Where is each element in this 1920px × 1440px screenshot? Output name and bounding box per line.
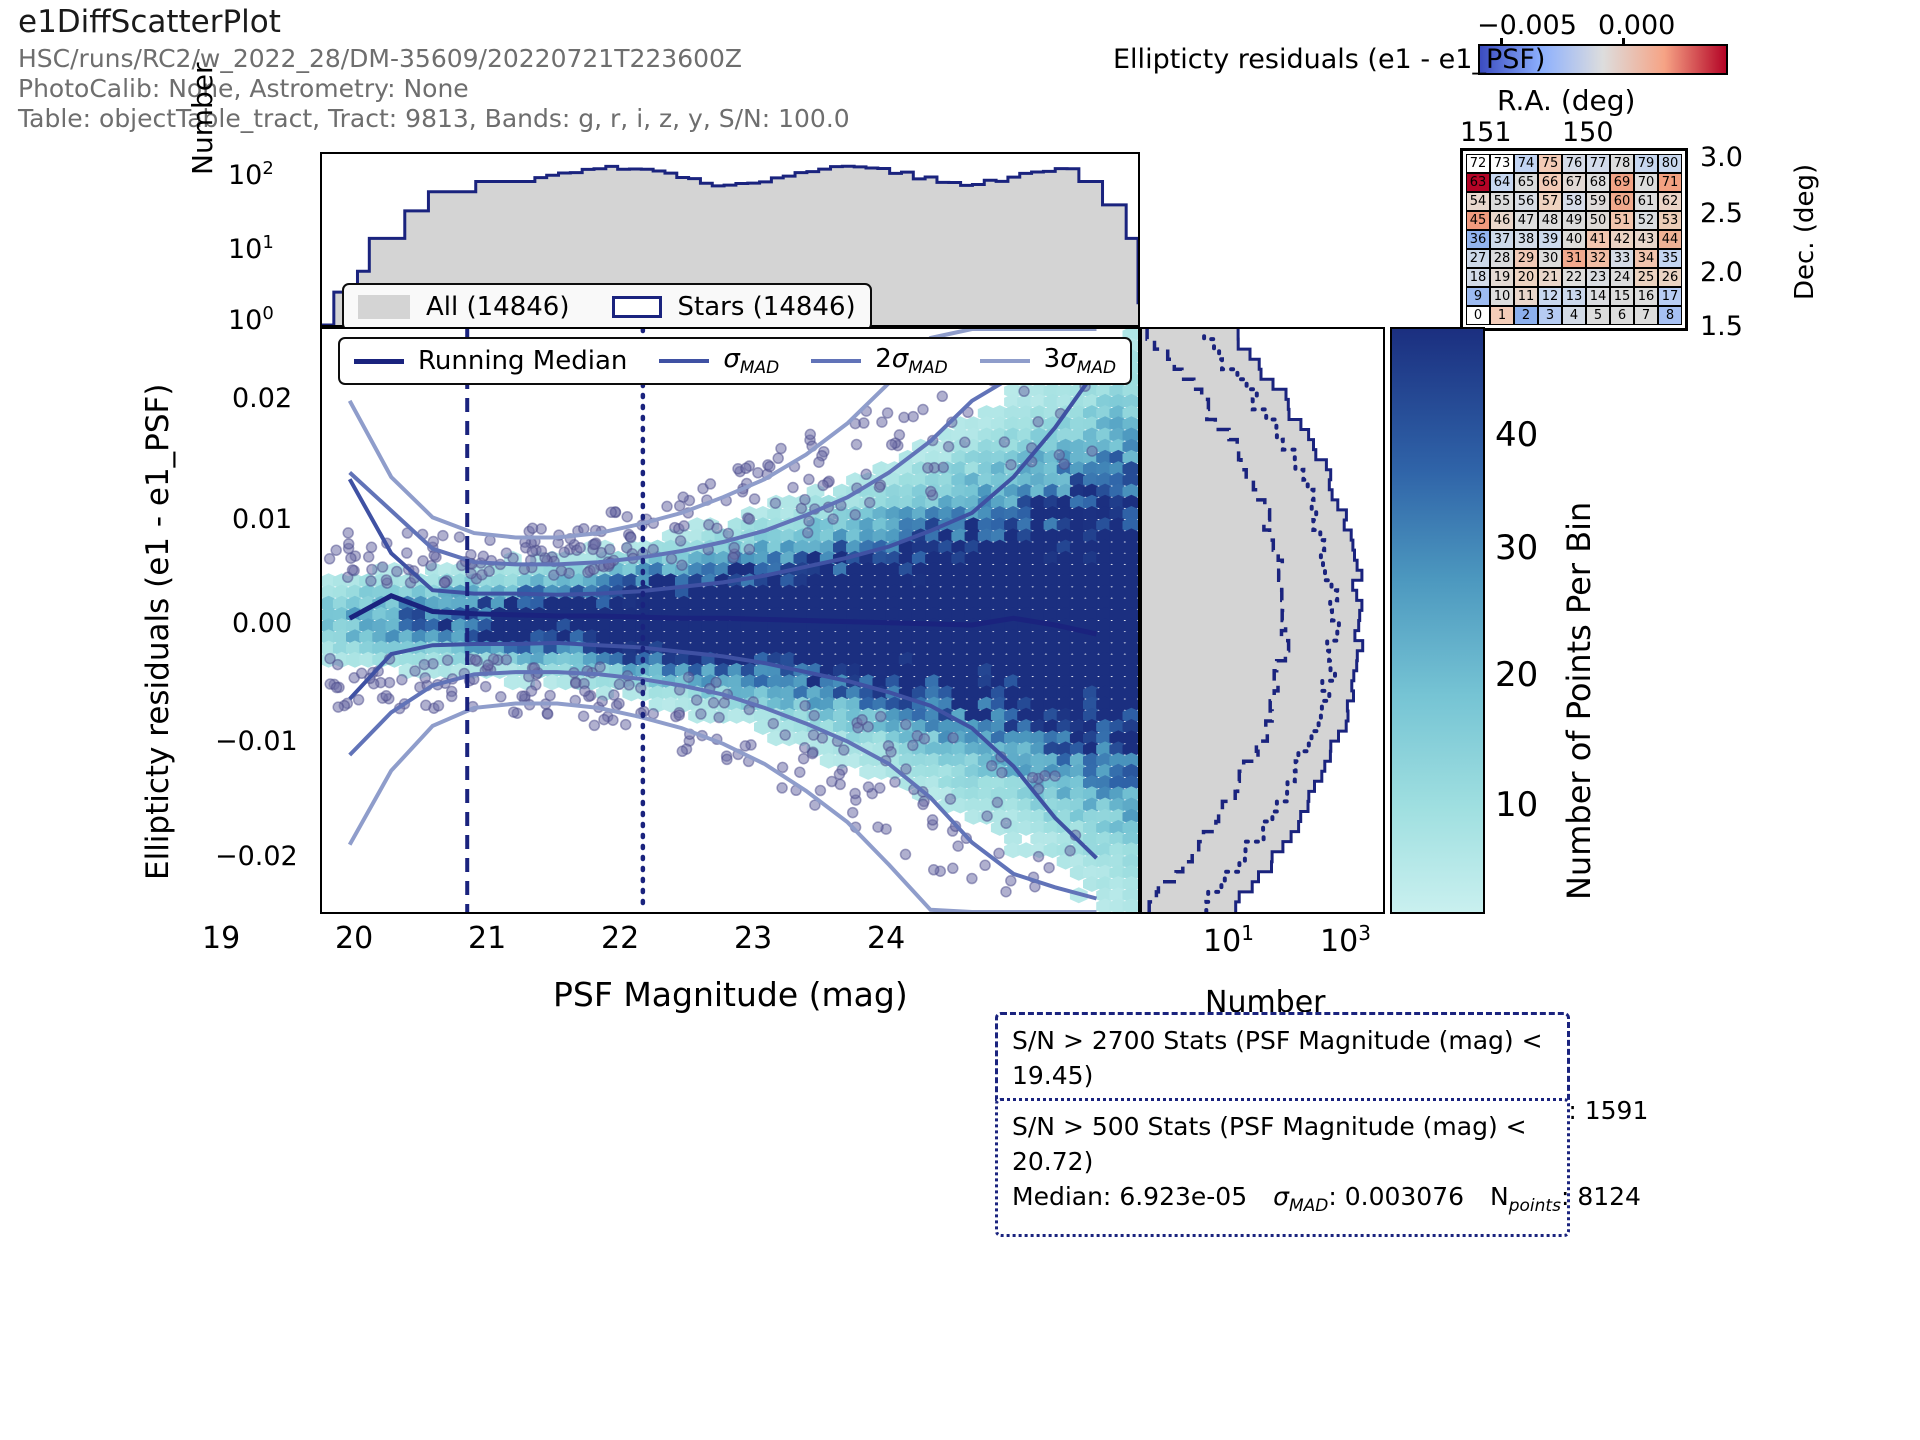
stats-heading-sn500: S/N > 500 Stats (PSF Magnitude (mag) < 2… [1012,1109,1553,1179]
scatter-point [886,747,896,757]
scatter-point [455,532,465,542]
scatter-point [1065,846,1075,856]
scatter-point [815,786,825,796]
scatter-point [967,874,977,884]
scatter-point [597,696,607,706]
skymap-dec-tick-2: 2.0 [1700,257,1743,288]
scatter-point [901,720,911,730]
scatter-point [599,715,609,725]
scatter-point [741,463,751,473]
skymap-cell-50[interactable]: 50 [1586,211,1610,230]
skymap-cell-22[interactable]: 22 [1562,268,1586,287]
scatter-point [614,679,624,689]
scatter-point [928,815,938,825]
skymap-cell-72[interactable]: 72 [1466,154,1490,173]
scatter-point [857,715,867,725]
scatter-point [1054,450,1064,460]
legend-line-3sigma-mad [980,359,1030,363]
scatter-point [994,848,1004,858]
scatter-point [850,510,860,520]
skymap-cell-16[interactable]: 16 [1634,287,1658,306]
legend-line-sigma-mad [659,359,709,363]
scatter-point [501,548,511,558]
skymap-cell-32[interactable]: 32 [1586,249,1610,268]
scatter-point [366,576,376,586]
scatter-point [937,391,947,401]
skymap-cell-59[interactable]: 59 [1586,192,1610,211]
scatter-point [803,528,813,538]
scatter-point [705,479,715,489]
skymap-dec-tick-25: 2.5 [1700,198,1743,229]
main-xtick-20: 20 [335,921,373,956]
scatter-point [765,462,775,472]
scatter-point [778,762,788,772]
scatter-point [875,783,885,793]
scatter-point [992,797,1002,807]
scatter-point [877,417,887,427]
scatter-point [899,412,909,422]
scatter-point [1040,771,1050,781]
scatter-point [559,547,569,557]
main-xtick-23: 23 [734,921,772,956]
scatter-point [770,498,780,508]
skymap-cell-0[interactable]: 0 [1466,306,1490,325]
scatter-point [590,539,600,549]
scatter-point [471,655,481,665]
scatter-point [773,453,783,463]
scatter-point [805,429,815,439]
skymap-cell-67[interactable]: 67 [1562,173,1586,192]
skymap-cell-10[interactable]: 10 [1490,287,1514,306]
scatter-point [1059,459,1069,469]
skymap-cell-70[interactable]: 70 [1634,173,1658,192]
skymap-cell-24[interactable]: 24 [1610,268,1634,287]
scatter-point [517,691,527,701]
scatter-point [331,545,341,555]
subtitle-line-collection: HSC/runs/RC2/w_2022_28/DM-35609/20220721… [18,44,850,74]
skymap-cell-74[interactable]: 74 [1514,154,1538,173]
main-xtick-24: 24 [867,921,905,956]
scatter-point [589,720,599,730]
stats-row-sn500: Median: 6.923e-05 σMAD: 0.003076 Npoints… [1012,1179,1553,1224]
skymap-cell-38[interactable]: 38 [1514,230,1538,249]
skymap-cell-60[interactable]: 60 [1610,192,1634,211]
scatter-point [580,686,590,696]
main-ytick-1: 0.01 [232,504,292,535]
skymap-cell-69[interactable]: 69 [1610,173,1634,192]
scatter-point [788,483,798,493]
scatter-point [443,655,453,665]
skymap-cell-34[interactable]: 34 [1634,249,1658,268]
colorbar-label: Number of Points Per Bin [1560,502,1598,900]
scatter-point [626,533,636,543]
skymap-cell-15[interactable]: 15 [1610,287,1634,306]
scatter-point [918,405,928,415]
skymap-cell-61[interactable]: 61 [1634,192,1658,211]
scatter-point [440,578,450,588]
scatter-point [980,860,990,870]
cbar-tick-10: 10 [1495,785,1538,825]
main-xtick-22: 22 [601,921,639,956]
scatter-point [344,539,354,549]
skymap-cell-53[interactable]: 53 [1658,211,1682,230]
scatter-point [768,719,778,729]
skymap-cell-17[interactable]: 17 [1658,287,1682,306]
scatter-point [712,523,722,533]
right-histogram-svg [1142,329,1383,912]
legend-label-stars: Stars (14846) [678,292,856,322]
scatter-point [744,544,754,554]
scatter-point [926,487,936,497]
scatter-point [402,548,412,558]
skymap-cell-21[interactable]: 21 [1538,268,1562,287]
scatter-point [873,822,883,832]
righthist-xtick-1000: 103 [1320,921,1371,959]
scatter-point [447,691,457,701]
scatter-point [692,695,702,705]
scatter-point [410,666,420,676]
scatter-point [325,654,335,664]
scatter-point [852,440,862,450]
skymap-cell-64[interactable]: 64 [1490,173,1514,192]
skymap-cell-76[interactable]: 76 [1562,154,1586,173]
scatter-point [419,660,429,670]
skymap-cell-78[interactable]: 78 [1610,154,1634,173]
skymap-cell-45[interactable]: 45 [1466,211,1490,230]
skymap-cell-7[interactable]: 7 [1634,306,1658,325]
skymap-cell-29[interactable]: 29 [1514,249,1538,268]
scatter-point [496,692,506,702]
scatter-point [624,680,634,690]
skymap-cell-11[interactable]: 11 [1514,287,1538,306]
skymap-cell-55[interactable]: 55 [1490,192,1514,211]
scatter-point [800,495,810,505]
scatter-point [948,863,958,873]
right-hist-all-fill [1142,329,1363,912]
skymap-cell-79[interactable]: 79 [1634,154,1658,173]
scatter-point [397,675,407,685]
main-ylabel: Ellipticty residuals (e1 - e1_PSF) [140,384,176,880]
scatter-point [795,767,805,777]
skymap-cell-54[interactable]: 54 [1466,192,1490,211]
scatter-point [1028,773,1038,783]
scatter-point [675,501,685,511]
subtitle-line-table: Table: objectTable_tract, Tract: 9813, B… [18,104,850,134]
legend-line-2sigma-mad [811,359,861,363]
scatter-point [890,777,900,787]
scatter-point [509,707,519,717]
scatter-point [865,498,875,508]
scatter-point [828,514,838,524]
scatter-point [750,494,760,504]
scatter-point [944,442,954,452]
skymap-cell-47[interactable]: 47 [1514,211,1538,230]
scatter-point [918,799,928,809]
legend-label-sigma-mad: σMAD [723,344,779,378]
subtitle-line-calib: PhotoCalib: None, Astrometry: None [18,74,850,104]
scatter-point [1006,876,1016,886]
scatter-point [850,789,860,799]
scatter-point [346,553,356,563]
scatter-point [800,743,810,753]
scatter-point [1006,460,1016,470]
scatter-point [575,543,585,553]
scatter-point [1034,852,1044,862]
skymap-cell-26[interactable]: 26 [1658,268,1682,287]
scatter-point [556,566,566,576]
scatter-point [709,698,719,708]
skymap-cell-27[interactable]: 27 [1466,249,1490,268]
skymap-cell-49[interactable]: 49 [1562,211,1586,230]
legend-line-running-median [354,359,404,364]
main-ytick-3: −0.01 [215,726,298,757]
scatter-point [728,553,738,563]
skymap-cell-14[interactable]: 14 [1586,287,1610,306]
ecbar-tick-low: −0.005 [1477,10,1577,41]
scatter-point [809,711,819,721]
scatter-point [605,544,615,554]
scatter-point [777,783,787,793]
scatter-point [676,536,686,546]
scatter-point [1001,887,1011,897]
stats-sigma-sn500: σMAD: 0.003076 [1273,1179,1464,1224]
skymap-cell-5[interactable]: 5 [1586,306,1610,325]
scatter-point [938,462,948,472]
scatter-point [579,711,589,721]
skymap-cell-71[interactable]: 71 [1658,173,1682,192]
skymap-cell-57[interactable]: 57 [1538,192,1562,211]
skymap-cell-20[interactable]: 20 [1514,268,1538,287]
scatter-point [960,437,970,447]
skymap-cell-12[interactable]: 12 [1538,287,1562,306]
main-plot-legend[interactable]: Running Median σMAD 2σMAD 3σMAD [338,337,1132,385]
skymap-cell-25[interactable]: 25 [1634,268,1658,287]
scatter-point [714,713,724,723]
scatter-point [908,740,918,750]
skymap-ra-tick-150: 150 [1562,117,1614,148]
skymap-cell-28[interactable]: 28 [1490,249,1514,268]
scatter-point [483,660,493,670]
skymap-cell-51[interactable]: 51 [1610,211,1634,230]
skymap-cell-75[interactable]: 75 [1538,154,1562,173]
scatter-point [804,474,814,484]
cbar-tick-20: 20 [1495,655,1538,695]
scatter-point [527,686,537,696]
skymap-cell-42[interactable]: 42 [1610,230,1634,249]
scatter-point [987,761,997,771]
skymap-cell-48[interactable]: 48 [1538,211,1562,230]
scatter-point [545,691,555,701]
scatter-point [595,662,605,672]
skymap-cell-2[interactable]: 2 [1514,306,1538,325]
scatter-point [908,412,918,422]
scatter-point [348,565,358,575]
scatter-point [809,730,819,740]
skymap-cell-31[interactable]: 31 [1562,249,1586,268]
stats-box-sn500: S/N > 500 Stats (PSF Magnitude (mag) < 2… [995,1098,1570,1237]
stats-npoints-sn500: Npoints: 8124 [1490,1179,1641,1224]
scatter-point [614,699,624,709]
skymap-cell-65[interactable]: 65 [1514,173,1538,192]
legend-label-2sigma-mad: 2σMAD [875,344,947,378]
skymap-cell-18[interactable]: 18 [1466,268,1490,287]
scatter-point [744,514,754,524]
skymap-cell-66[interactable]: 66 [1538,173,1562,192]
ellipticity-colorbar-label: Ellipticty residuals (e1 - e1_PSF) [1113,44,1545,75]
scatter-point [332,683,342,693]
scatter-point [622,512,632,522]
scatter-point [434,701,444,711]
main-ytick-0: 0.02 [232,383,292,414]
skymap-cell-30[interactable]: 30 [1538,249,1562,268]
scatter-point [684,672,694,682]
scatter-point [478,551,488,561]
scatter-point [997,768,1007,778]
skymap-cell-23[interactable]: 23 [1586,268,1610,287]
scatter-point [818,480,828,490]
tophist-ytick-10: 101 [228,232,274,265]
scatter-point [982,811,992,821]
scatter-point [729,543,739,553]
scatter-point [999,437,1009,447]
scatter-point [367,542,377,552]
skymap-cell-40[interactable]: 40 [1562,230,1586,249]
main-ytick-4: −0.02 [215,841,298,872]
scatter-point [874,482,884,492]
scatter-point [1087,446,1097,456]
skymap-cell-58[interactable]: 58 [1562,192,1586,211]
skymap-cell-43[interactable]: 43 [1634,230,1658,249]
skymap-dec-tick-3: 3.0 [1700,142,1743,173]
hexbin-cell [1123,898,1139,912]
skymap-cell-46[interactable]: 46 [1490,211,1514,230]
scatter-point [901,849,911,859]
scatter-point [438,531,448,541]
skymap-cell-13[interactable]: 13 [1562,287,1586,306]
ecbar-tick-zero: 0.000 [1598,10,1675,41]
skymap-tract-grid[interactable]: 7273747576777879806364656667686970715455… [1460,148,1688,331]
tophist-ytick-1: 100 [228,303,274,336]
skymap-cell-6[interactable]: 6 [1610,306,1634,325]
scatter-point [501,655,511,665]
scatter-point [780,730,790,740]
scatter-point [894,430,904,440]
skymap-cell-9[interactable]: 9 [1466,287,1490,306]
stats-heading-sn2700: S/N > 2700 Stats (PSF Magnitude (mag) < … [1012,1023,1553,1093]
skymap-cell-35[interactable]: 35 [1658,249,1682,268]
legend-swatch-stars [612,296,662,318]
righthist-xtick-10: 101 [1203,921,1254,959]
scatter-point [948,733,958,743]
scatter-point [804,516,814,526]
scatter-point [834,769,844,779]
scatter-point [528,523,538,533]
skymap-cell-62[interactable]: 62 [1658,192,1682,211]
skymap-cell-4[interactable]: 4 [1562,306,1586,325]
skymap-cell-44[interactable]: 44 [1658,230,1682,249]
scatter-point [1050,771,1060,781]
scatter-point [848,808,858,818]
skymap-cell-52[interactable]: 52 [1634,211,1658,230]
main-xlabel: PSF Magnitude (mag) [553,975,908,1014]
scatter-point [723,529,733,539]
scatter-point [814,457,824,467]
main-hexbin-panel[interactable] [320,327,1140,914]
skymap-cell-39[interactable]: 39 [1538,230,1562,249]
cbar-tick-30: 30 [1495,528,1538,568]
scatter-point [887,440,897,450]
top-histogram-legend[interactable]: All (14846) Stars (14846) [342,283,872,331]
scatter-point [722,754,732,764]
page-title: e1DiffScatterPlot [18,4,281,40]
skymap-cell-80[interactable]: 80 [1658,154,1682,173]
scatter-point [677,560,687,570]
scatter-point [740,741,750,751]
scatter-point [392,567,402,577]
scatter-point [929,865,939,875]
skymap-ra-label: R.A. (deg) [1497,84,1635,117]
right-histogram-panel[interactable] [1140,327,1385,914]
scatter-point [589,564,599,574]
scatter-point [367,565,377,575]
scatter-point [481,682,491,692]
scatter-point [1033,417,1043,427]
skymap-cell-19[interactable]: 19 [1490,268,1514,287]
skymap-cell-1[interactable]: 1 [1490,306,1514,325]
skymap-cell-8[interactable]: 8 [1658,306,1682,325]
skymap-cell-37[interactable]: 37 [1490,230,1514,249]
skymap-cell-73[interactable]: 73 [1490,154,1514,173]
legend-label-3sigma-mad: 3σMAD [1044,344,1116,378]
scatter-point [354,695,364,705]
skymap-cell-68[interactable]: 68 [1586,173,1610,192]
skymap-cell-77[interactable]: 77 [1586,154,1610,173]
scatter-point [923,463,933,473]
skymap-cell-41[interactable]: 41 [1586,230,1610,249]
skymap-dec-tick-15: 1.5 [1700,311,1743,342]
scatter-point [883,408,893,418]
main-xtick-21: 21 [468,921,506,956]
page-subtitle: HSC/runs/RC2/w_2022_28/DM-35609/20220721… [18,44,850,134]
scatter-point [1019,386,1029,396]
cbar-tick-40: 40 [1495,415,1538,455]
main-ytick-2: 0.00 [232,608,292,639]
scatter-point [325,554,335,564]
scatter-point [381,691,391,701]
skymap-cell-33[interactable]: 33 [1610,249,1634,268]
skymap-cell-3[interactable]: 3 [1538,306,1562,325]
tophist-ylabel: Number [186,63,219,175]
scatter-point [381,575,391,585]
stats-median-sn500: Median: 6.923e-05 [1012,1179,1247,1224]
scatter-point [606,507,616,517]
scatter-point [919,734,929,744]
scatter-point [418,556,428,566]
scatter-point [333,702,343,712]
legend-swatch-all [358,295,410,319]
scatter-point [674,710,684,720]
skymap-cell-56[interactable]: 56 [1514,192,1538,211]
main-plot-svg [322,329,1138,912]
skymap-cell-63[interactable]: 63 [1466,173,1490,192]
scatter-point [861,469,871,479]
skymap-cell-36[interactable]: 36 [1466,230,1490,249]
main-xtick-19: 19 [202,921,240,956]
scatter-point [378,562,388,572]
skymap-dec-label: Dec. (deg) [1790,164,1820,300]
scatter-point [800,701,810,711]
tophist-ytick-100: 102 [228,158,274,191]
